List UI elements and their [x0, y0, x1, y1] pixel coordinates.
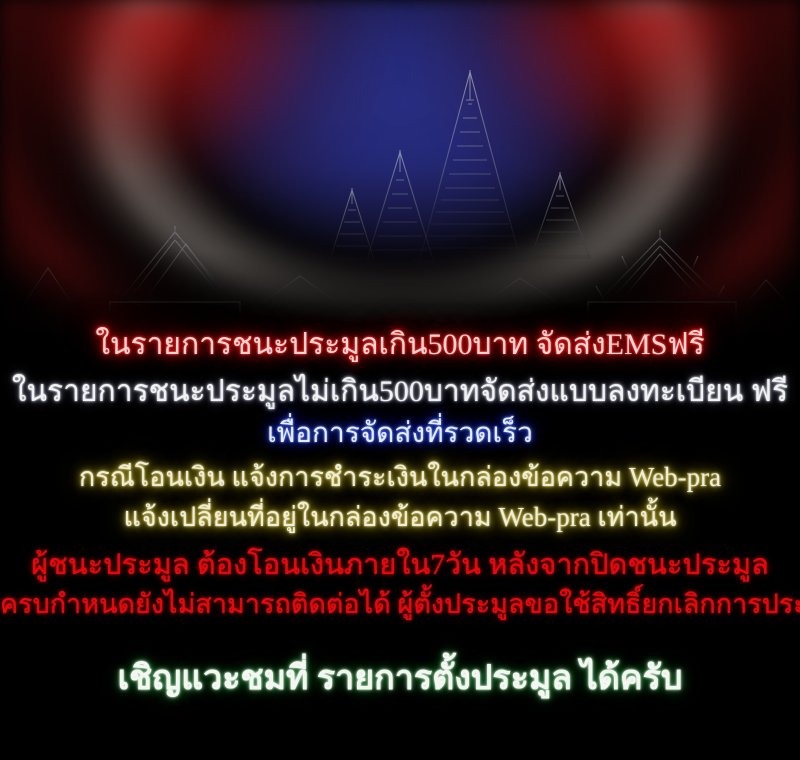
terms-line-transfer-7-days: ผู้ชนะประมูล ต้องโอนเงินภายใน7วัน หลังจา…	[0, 551, 800, 580]
terms-line-visit-listings: เชิญแวะชมที่ รายการตั้งประมูล ได้ครับ	[0, 662, 800, 696]
terms-line-registered-free: ในรายการชนะประมูลไม่เกิน500บาทจัดส่งแบบล…	[0, 377, 800, 407]
auction-terms-banner: ในรายการชนะประมูลเกิน500บาท จัดส่งEMSฟรี…	[0, 0, 800, 760]
terms-line-notify-payment: กรณีโอนเงิน แจ้งการชำระเงินในกล่องข้อควา…	[0, 464, 800, 491]
terms-line-fast-shipping: เพื่อการจัดส่งที่รวดเร็ว	[0, 420, 800, 448]
terms-text-block: ในรายการชนะประมูลเกิน500บาท จัดส่งEMSฟรี…	[0, 0, 800, 760]
terms-line-ems-free: ในรายการชนะประมูลเกิน500บาท จัดส่งEMSฟรี	[0, 330, 800, 360]
terms-line-cancel-right: ครบกำหนดยังไม่สามารถติดต่อได้ ผู้ตั้งประ…	[0, 591, 800, 618]
terms-line-notify-address: แจ้งเปลี่ยนที่อยู่ในกล่องข้อความ Web-pra…	[0, 504, 800, 531]
